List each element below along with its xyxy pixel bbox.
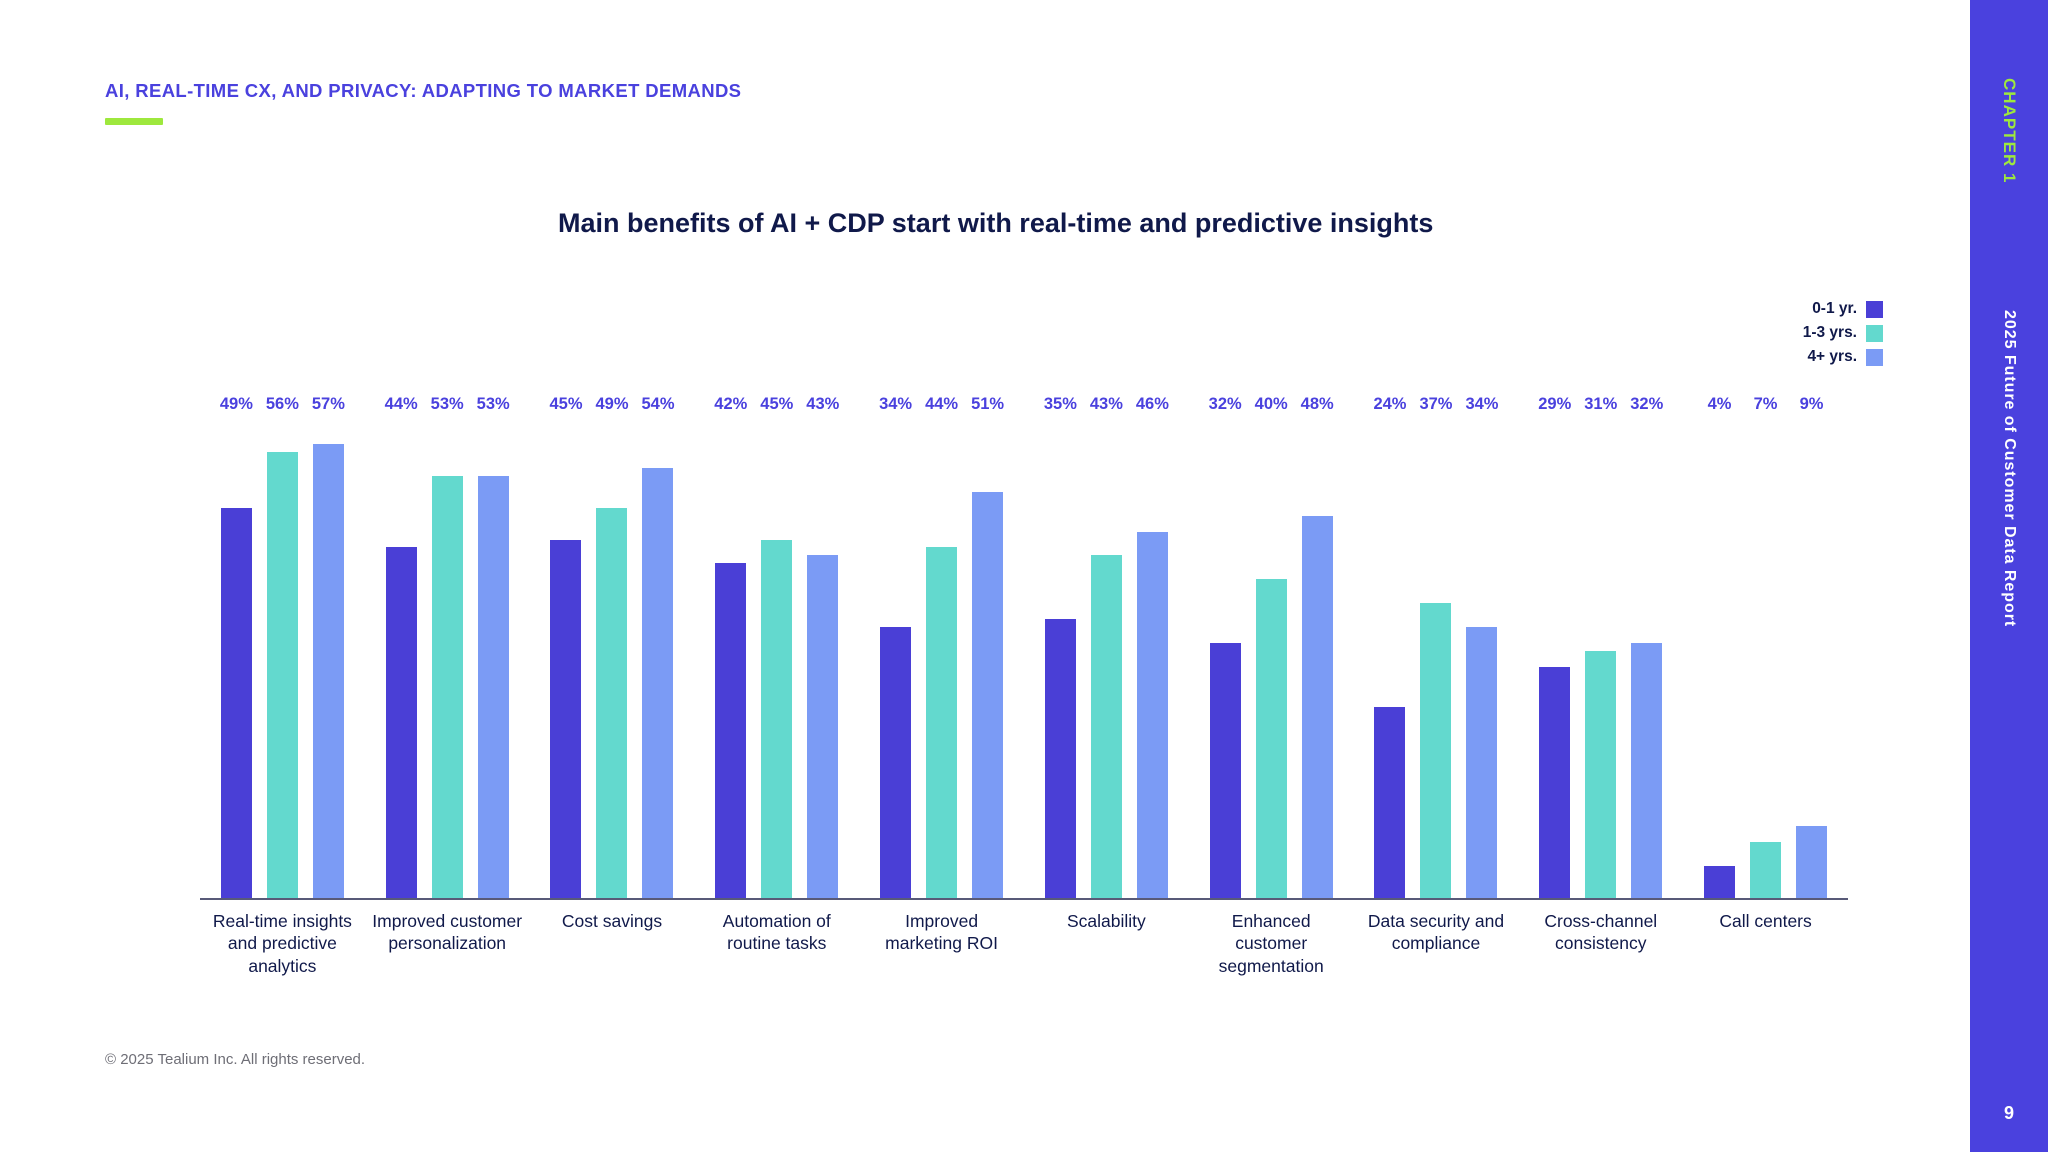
legend-color-swatch (1866, 301, 1883, 318)
legend-color-swatch (1866, 349, 1883, 366)
legend-item: 0-1 yr. (1812, 300, 1883, 318)
legend-color-swatch (1866, 325, 1883, 342)
bar[interactable]: 53% (432, 476, 463, 898)
page-header: AI, REAL-TIME CX, AND PRIVACY: ADAPTING … (105, 80, 741, 125)
bar[interactable]: 51% (972, 492, 1003, 898)
x-axis-label: Cross-channel consistency (1518, 910, 1683, 977)
bar-value-label: 56% (266, 395, 299, 414)
bar[interactable]: 54% (642, 468, 673, 898)
bar-value-label: 34% (1465, 395, 1498, 414)
bar[interactable]: 44% (386, 547, 417, 898)
bar[interactable]: 7% (1750, 842, 1781, 898)
bar-value-label: 51% (971, 395, 1004, 414)
bar[interactable]: 9% (1796, 826, 1827, 898)
bar[interactable]: 34% (880, 627, 911, 898)
bar-column[interactable]: 44% (926, 420, 957, 898)
chart-legend: 0-1 yr.1-3 yrs.4+ yrs. (1803, 300, 1883, 366)
bar-value-label: 54% (641, 395, 674, 414)
bar-value-label: 37% (1419, 395, 1452, 414)
bar-column[interactable]: 56% (267, 420, 298, 898)
bar[interactable]: 35% (1045, 619, 1076, 898)
bar-column[interactable]: 53% (432, 420, 463, 898)
bar-group: 24%37%34% (1354, 420, 1519, 898)
bar-group: 49%56%57% (200, 420, 365, 898)
bar-column[interactable]: 24% (1374, 420, 1405, 898)
bar-group: 35%43%46% (1024, 420, 1189, 898)
bar-value-label: 4% (1708, 395, 1732, 414)
bar-group: 4%7%9% (1683, 420, 1848, 898)
bar[interactable]: 45% (761, 540, 792, 899)
bar[interactable]: 53% (478, 476, 509, 898)
bar-column[interactable]: 46% (1137, 420, 1168, 898)
x-axis-line (200, 898, 1848, 900)
bar-column[interactable]: 40% (1256, 420, 1287, 898)
x-axis-label: Automation of routine tasks (694, 910, 859, 977)
bar-column[interactable]: 43% (807, 420, 838, 898)
bar-group: 45%49%54% (530, 420, 695, 898)
bar[interactable]: 43% (1091, 555, 1122, 898)
legend-item-label: 4+ yrs. (1807, 348, 1857, 366)
bar-value-label: 44% (385, 395, 418, 414)
bar-group: 29%31%32% (1518, 420, 1683, 898)
bar-value-label: 48% (1301, 395, 1334, 414)
bar-value-label: 53% (431, 395, 464, 414)
bar-column[interactable]: 45% (550, 420, 581, 898)
bar-value-label: 32% (1209, 395, 1242, 414)
legend-item: 1-3 yrs. (1803, 324, 1883, 342)
bar[interactable]: 49% (221, 508, 252, 898)
bar-column[interactable]: 57% (313, 420, 344, 898)
bar-value-label: 7% (1754, 395, 1778, 414)
bar[interactable]: 46% (1137, 532, 1168, 898)
bar-group: 44%53%53% (365, 420, 530, 898)
bar-value-label: 40% (1255, 395, 1288, 414)
bar-value-label: 43% (1090, 395, 1123, 414)
bar[interactable]: 24% (1374, 707, 1405, 898)
report-page: AI, REAL-TIME CX, AND PRIVACY: ADAPTING … (0, 0, 2048, 1152)
bar-column[interactable]: 32% (1210, 420, 1241, 898)
sidebar-report-label: 2025 Future of Customer Data Report (2000, 310, 2018, 627)
bar-value-label: 49% (595, 395, 628, 414)
bar-column[interactable]: 7% (1750, 420, 1781, 898)
bar-column[interactable]: 51% (972, 420, 1003, 898)
chart-title: Main benefits of AI + CDP start with rea… (558, 208, 1433, 239)
page-number: 9 (1970, 1103, 2048, 1124)
bar-value-label: 34% (879, 395, 912, 414)
footer-copyright: © 2025 Tealium Inc. All rights reserved. (105, 1051, 365, 1068)
bar-column[interactable]: 45% (761, 420, 792, 898)
x-axis-label: Call centers (1683, 910, 1848, 977)
bar-column[interactable]: 32% (1631, 420, 1662, 898)
bar-column[interactable]: 29% (1539, 420, 1570, 898)
legend-item-label: 1-3 yrs. (1803, 324, 1857, 342)
bar-column[interactable]: 4% (1704, 420, 1735, 898)
bar-value-label: 44% (925, 395, 958, 414)
bar[interactable]: 34% (1466, 627, 1497, 898)
bar-value-label: 35% (1044, 395, 1077, 414)
bar[interactable]: 32% (1631, 643, 1662, 898)
bar-column[interactable]: 49% (221, 420, 252, 898)
bar-column[interactable]: 44% (386, 420, 417, 898)
bar-value-label: 42% (714, 395, 747, 414)
bar-column[interactable]: 53% (478, 420, 509, 898)
bar-column[interactable]: 54% (642, 420, 673, 898)
chart-plot-area: 49%56%57%44%53%53%45%49%54%42%45%43%34%4… (200, 420, 1848, 898)
bar[interactable]: 43% (807, 555, 838, 898)
x-axis-label: Cost savings (530, 910, 695, 977)
bar-value-label: 32% (1630, 395, 1663, 414)
sidebar-chapter-label: CHAPTER 1 (1999, 78, 2019, 184)
x-axis-labels: Real-time insights and predictive analyt… (200, 910, 1848, 977)
bar-value-label: 53% (477, 395, 510, 414)
x-axis-label: Improved customer personalization (365, 910, 530, 977)
bar-column[interactable]: 49% (596, 420, 627, 898)
bar-group: 42%45%43% (694, 420, 859, 898)
bar[interactable]: 42% (715, 563, 746, 898)
x-axis-label: Real-time insights and predictive analyt… (200, 910, 365, 977)
bar-column[interactable]: 43% (1091, 420, 1122, 898)
bar-value-label: 46% (1136, 395, 1169, 414)
bar[interactable]: 45% (550, 540, 581, 899)
bar[interactable]: 32% (1210, 643, 1241, 898)
bar-group: 32%40%48% (1189, 420, 1354, 898)
legend-item-label: 0-1 yr. (1812, 300, 1857, 318)
bar[interactable]: 29% (1539, 667, 1570, 898)
bar-value-label: 49% (220, 395, 253, 414)
bar[interactable]: 56% (267, 452, 298, 898)
bar-value-label: 24% (1373, 395, 1406, 414)
bar[interactable]: 44% (926, 547, 957, 898)
x-axis-label: Improved marketing ROI (859, 910, 1024, 977)
x-axis-label: Data security and compliance (1354, 910, 1519, 977)
bar-column[interactable]: 48% (1302, 420, 1333, 898)
bar-value-label: 43% (806, 395, 839, 414)
header-accent-rule (105, 118, 163, 125)
bar-value-label: 57% (312, 395, 345, 414)
bar-column[interactable]: 37% (1420, 420, 1451, 898)
bar-column[interactable]: 35% (1045, 420, 1076, 898)
bar[interactable]: 49% (596, 508, 627, 898)
sidebar: CHAPTER 1 2025 Future of Customer Data R… (1970, 0, 2048, 1152)
bar[interactable]: 40% (1256, 579, 1287, 898)
bar[interactable]: 4% (1704, 866, 1735, 898)
bar[interactable]: 37% (1420, 603, 1451, 898)
bar-column[interactable]: 31% (1585, 420, 1616, 898)
bar-value-label: 9% (1800, 395, 1824, 414)
bar-groups: 49%56%57%44%53%53%45%49%54%42%45%43%34%4… (200, 420, 1848, 898)
bar[interactable]: 48% (1302, 516, 1333, 898)
bar-value-label: 31% (1584, 395, 1617, 414)
bar-value-label: 45% (549, 395, 582, 414)
bar-column[interactable]: 42% (715, 420, 746, 898)
bar-column[interactable]: 34% (880, 420, 911, 898)
bar[interactable]: 31% (1585, 651, 1616, 898)
bar[interactable]: 57% (313, 444, 344, 898)
bar-column[interactable]: 9% (1796, 420, 1827, 898)
page-title: AI, REAL-TIME CX, AND PRIVACY: ADAPTING … (105, 80, 741, 102)
bar-value-label: 45% (760, 395, 793, 414)
bar-column[interactable]: 34% (1466, 420, 1497, 898)
legend-item: 4+ yrs. (1807, 348, 1883, 366)
bar-group: 34%44%51% (859, 420, 1024, 898)
x-axis-label: Scalability (1024, 910, 1189, 977)
bar-value-label: 29% (1538, 395, 1571, 414)
x-axis-label: Enhanced customer segmentation (1189, 910, 1354, 977)
